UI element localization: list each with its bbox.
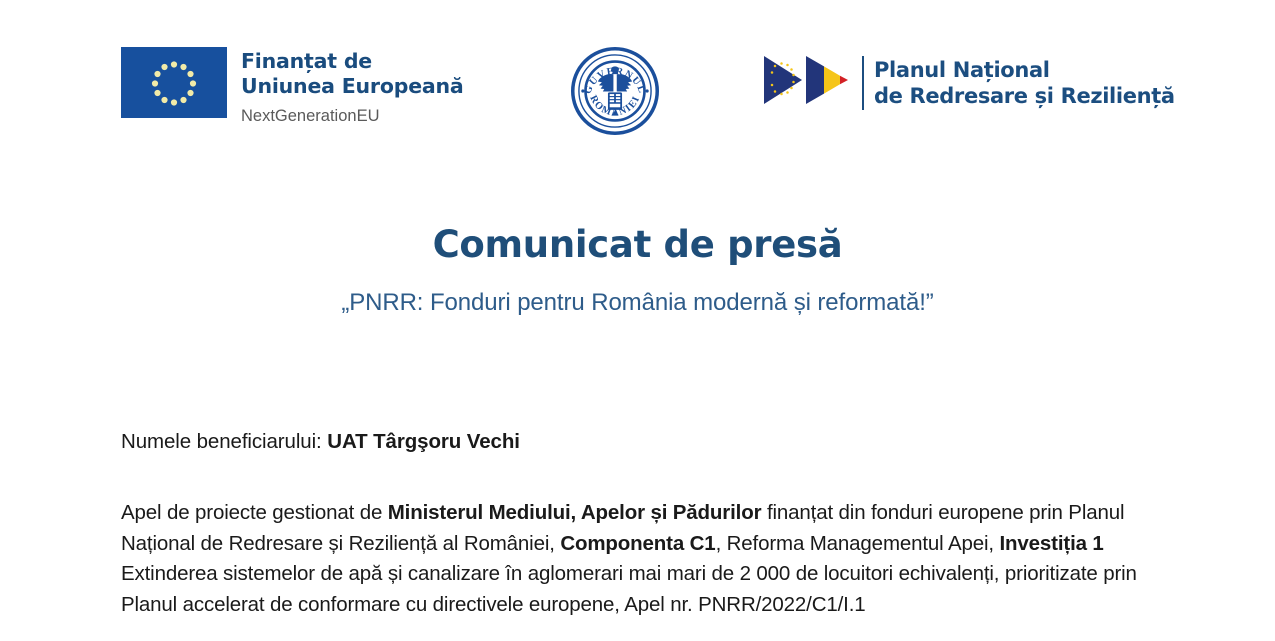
pnrr-logo-line1: Planul Național xyxy=(874,57,1175,83)
paragraph-seg-1: Apel de proiecte gestionat de xyxy=(121,501,388,524)
beneficiary-name: UAT Târgşoru Vechi xyxy=(327,430,520,453)
paragraph-seg-5: , Reforma Managementul Apei, xyxy=(716,532,1000,555)
eu-logo-text: Finanțat de Uniunea Europeană NextGenera… xyxy=(241,47,464,127)
eu-logo-subline: NextGenerationEU xyxy=(241,105,464,127)
beneficiary-line: Numele beneficiarului: UAT Târgşoru Vech… xyxy=(121,428,1161,456)
eu-funding-logo: Finanțat de Uniunea Europeană NextGenera… xyxy=(121,47,464,127)
paragraph-seg-2-bold: Ministerul Mediului, Apelor și Pădurilor xyxy=(388,501,762,524)
eu-logo-line1: Finanțat de xyxy=(241,49,464,74)
beneficiary-block: Numele beneficiarului: UAT Târgşoru Vech… xyxy=(121,428,1161,456)
paragraph-seg-7: Extinderea sistemelor de apă și canaliza… xyxy=(121,562,1137,616)
pnrr-divider xyxy=(862,56,864,110)
pnrr-logo-line2: de Redresare și Reziliență xyxy=(874,83,1175,109)
pnrr-logo: Planul Național de Redresare și Rezilien… xyxy=(762,52,1175,113)
pnrr-logo-text: Planul Național de Redresare și Rezilien… xyxy=(874,57,1175,109)
paragraph-seg-4-bold: Componenta C1 xyxy=(560,532,715,555)
guvernul-romaniei-seal-icon: GUVERNUL ROMÂNIEI xyxy=(571,47,659,135)
eu-stars-icon xyxy=(121,47,227,118)
header-logo-band: Finanțat de Uniunea Europeană NextGenera… xyxy=(0,0,1275,150)
pnrr-arrows-icon xyxy=(762,52,854,113)
page-title: Comunicat de presă xyxy=(0,222,1275,268)
page-subtitle: „PNRR: Fonduri pentru România modernă și… xyxy=(0,288,1275,318)
beneficiary-label: Numele beneficiarului: xyxy=(121,430,327,453)
body-paragraph: Apel de proiecte gestionat de Ministerul… xyxy=(121,498,1166,620)
eu-flag-icon xyxy=(121,47,227,118)
paragraph-seg-6-bold: Investiția 1 xyxy=(1000,532,1104,555)
eu-logo-line2: Uniunea Europeană xyxy=(241,74,464,99)
